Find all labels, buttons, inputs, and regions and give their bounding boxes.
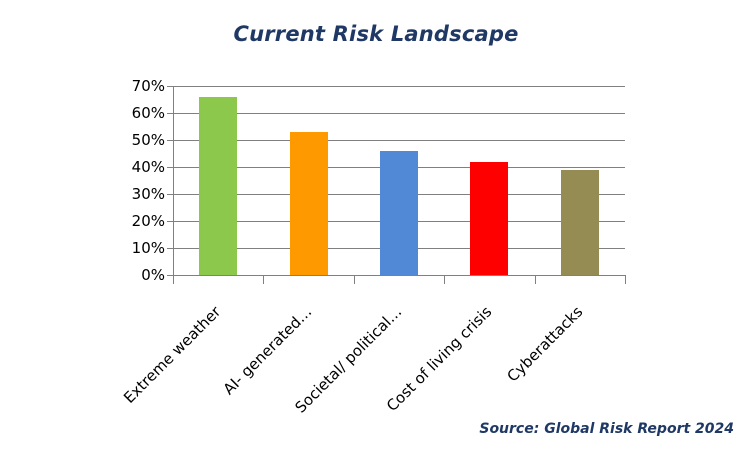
source-note: Source: Global Risk Report 2024 [479, 421, 734, 437]
x-axis-labels: Extreme weatherAI- generated…Societal/ p… [0, 0, 752, 452]
x-axis-tick-label: Societal/ political… [251, 303, 405, 457]
x-axis-tick-label: Cost of living crisis [342, 303, 496, 457]
x-axis-tick-label: AI- generated… [161, 303, 315, 457]
x-axis-tick-label: Extreme weather [70, 303, 224, 457]
